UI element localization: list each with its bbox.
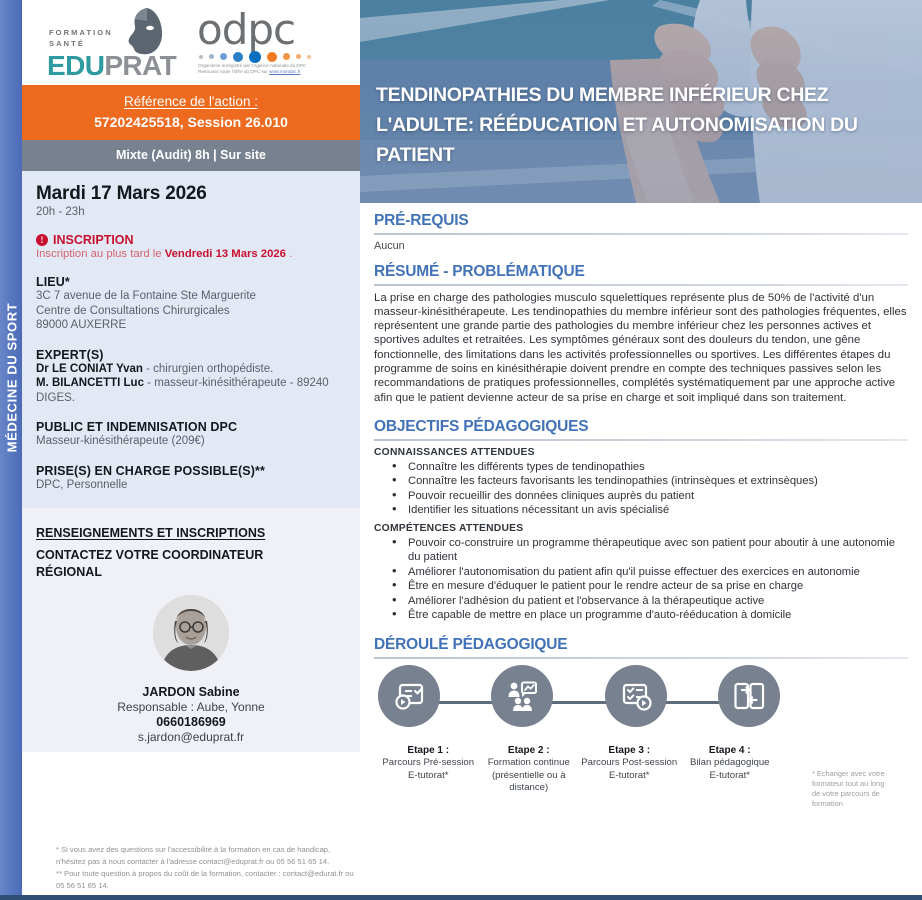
- odpc-dot-7: [283, 53, 290, 60]
- main-content: TENDINOPATHIES DU MEMBRE INFÉRIEUR CHEZ …: [360, 0, 922, 900]
- content-body: PRÉ-REQUIS Aucun RÉSUMÉ - PROBLÉMATIQUE …: [360, 203, 922, 795]
- odpc-dot-3: [220, 53, 227, 60]
- section-divider: [374, 439, 908, 441]
- odpc-dot-5: [249, 51, 261, 63]
- eduprat-logo: FORMATION SANTÉ EDUPRAT: [37, 8, 185, 82]
- list-item: Améliorer l'adhésion du patient et l'obs…: [380, 594, 908, 608]
- timeline-step-3[interactable]: [605, 665, 667, 727]
- subheading-connaissances: CONNAISSANCES ATTENDUES: [374, 447, 908, 458]
- odpc-legal-prefix: Retrouvez toute l'offre du DPC sur: [198, 69, 269, 74]
- odpc-logo: odpc Organisme enregistré par l'Agence: [195, 7, 345, 83]
- eduprat-word-prat: PRAT: [104, 50, 176, 81]
- expert-item: Dr LE CONIAT Yvan - chirurgien orthopédi…: [36, 362, 346, 377]
- list-item: Améliorer l'autonomisation du patient af…: [380, 565, 908, 579]
- reference-code: 57202425518, Session 26.010: [30, 114, 352, 130]
- contact-role: Responsable : Aube, Yonne: [36, 700, 346, 714]
- step-title: Etape 1 :: [378, 745, 479, 758]
- vertical-category-label: MÉDECINE DU SPORT: [5, 273, 20, 483]
- timeline-step-4[interactable]: [718, 665, 780, 727]
- step-line-1: Formation continue: [488, 757, 570, 768]
- timeline-node-list: [378, 665, 780, 727]
- timeline-step-1[interactable]: [378, 665, 440, 727]
- step-line-1: Parcours Pré-session: [382, 757, 474, 768]
- odpc-dot-9: [307, 55, 311, 59]
- connaissances-list: Connaître les différents types de tendin…: [380, 460, 908, 518]
- section-divider: [374, 233, 908, 235]
- spacer: [374, 254, 908, 263]
- list-item: Être en mesure d'éduquer le patient pour…: [380, 579, 908, 593]
- odpc-legal-text: Organisme enregistré par l'Agence nation…: [198, 63, 344, 76]
- session-date: Mardi 17 Mars 2026: [36, 183, 346, 205]
- footnotes: * Si vous avez des questions sur l'acces…: [44, 844, 374, 892]
- competences-list: Pouvoir co-construire un programme théra…: [380, 536, 908, 622]
- training-program-flyer: MÉDECINE DU SPORT FORMATION SANTÉ EDUPRA…: [0, 0, 922, 900]
- logo-band: FORMATION SANTÉ EDUPRAT odpc: [22, 0, 360, 85]
- timeline-label-2: Etape 2 : Formation continue (présentiel…: [479, 745, 580, 795]
- expert-name: M. BILANCETTI Luc: [36, 377, 144, 389]
- step-line-2: E-tutorat*: [408, 770, 449, 781]
- experts-heading: EXPERT(S): [36, 348, 346, 362]
- expert-item: M. BILANCETTI Luc - masseur-kinésithérap…: [36, 376, 346, 405]
- timeline-label-1: Etape 1 : Parcours Pré-session E-tutorat…: [378, 745, 479, 795]
- spacer: [374, 623, 908, 636]
- sidebar-content: FORMATION SANTÉ EDUPRAT odpc: [22, 0, 360, 900]
- prerequis-body: Aucun: [374, 240, 908, 254]
- timeline-step-2[interactable]: [491, 665, 553, 727]
- location-line-1: 3C 7 avenue de la Fontaine Ste Marguerit…: [36, 289, 346, 304]
- odpc-dot-6: [267, 52, 277, 62]
- contact-panel: RENSEIGNEMENTS ET INSCRIPTIONS CONTACTEZ…: [22, 508, 360, 752]
- public-body: Masseur-kinésithérapeute (209€): [36, 434, 346, 449]
- public-heading: PUBLIC ET INDEMNISATION DPC: [36, 420, 346, 434]
- bottom-border: [0, 895, 922, 900]
- expert-name: Dr LE CONIAT Yvan: [36, 363, 143, 375]
- section-heading-prerequis: PRÉ-REQUIS: [374, 212, 908, 230]
- post-session-checklist-icon: [619, 679, 653, 713]
- contact-email[interactable]: s.jardon@eduprat.fr: [36, 730, 346, 744]
- avatar-wrapper: [36, 595, 346, 676]
- location-heading: LIEU*: [36, 275, 346, 289]
- eduprat-tagline-2: SANTÉ: [49, 38, 113, 49]
- contact-subtitle-1: CONTACTEZ VOTRE COORDINATEUR: [36, 547, 346, 564]
- step-title: Etape 4 :: [680, 745, 781, 758]
- location-block: LIEU* 3C 7 avenue de la Fontaine Ste Mar…: [36, 275, 346, 333]
- reference-bar: Référence de l'action : 57202425518, Ses…: [22, 85, 360, 140]
- odpc-legal-line-2: Retrouvez toute l'offre du DPC sur www.m…: [198, 69, 344, 75]
- section-divider: [374, 284, 908, 286]
- odpc-dot-row: [199, 51, 311, 63]
- location-address: 3C 7 avenue de la Fontaine Ste Marguerit…: [36, 289, 346, 333]
- experts-block: EXPERT(S) Dr LE CONIAT Yvan - chirurgien…: [36, 348, 346, 406]
- reference-title: Référence de l'action :: [30, 94, 352, 109]
- odpc-dot-2: [209, 54, 214, 59]
- session-info-panel: Mardi 17 Mars 2026 20h - 23h ! INSCRIPTI…: [22, 171, 360, 508]
- inscription-deadline: Vendredi 13 Mars 2026: [165, 248, 286, 260]
- exchange-devices-icon: [732, 679, 766, 713]
- vertical-category-tab: MÉDECINE DU SPORT: [0, 0, 22, 900]
- eduprat-head-icon: [117, 8, 163, 56]
- step-line-1: Parcours Post-session: [581, 757, 677, 768]
- avatar: [153, 595, 229, 671]
- timeline-footnote: * Echanger avec votre formateur tout au …: [812, 769, 886, 809]
- timeline-nodes-row: [378, 665, 904, 739]
- left-sidebar: MÉDECINE DU SPORT FORMATION SANTÉ EDUPRA…: [0, 0, 360, 900]
- funding-block: PRISE(S) EN CHARGE POSSIBLE(S)** DPC, Pe…: [36, 464, 346, 493]
- timeline-labels: Etape 1 : Parcours Pré-session E-tutorat…: [378, 745, 780, 795]
- step-title: Etape 3 :: [579, 745, 680, 758]
- inscription-heading: ! INSCRIPTION: [36, 233, 346, 247]
- odpc-dot-1: [199, 55, 203, 59]
- section-deroule: DÉROULÉ PÉDAGOGIQUE: [374, 636, 908, 795]
- public-block: PUBLIC ET INDEMNISATION DPC Masseur-kiné…: [36, 420, 346, 449]
- list-item: Être capable de mettre en place un progr…: [380, 608, 908, 622]
- section-heading-resume: RÉSUMÉ - PROBLÉMATIQUE: [374, 263, 908, 281]
- timeline-label-3: Etape 3 : Parcours Post-session E-tutora…: [579, 745, 680, 795]
- eduprat-word-edu: EDU: [47, 50, 104, 81]
- inscription-body-post: .: [286, 248, 292, 260]
- step-title: Etape 2 :: [479, 745, 580, 758]
- step-line-1: Bilan pédagogique: [690, 757, 770, 768]
- section-divider: [374, 657, 908, 659]
- odpc-dot-4: [233, 52, 243, 62]
- section-objectifs: OBJECTIFS PÉDAGOGIQUES CONNAISSANCES ATT…: [374, 418, 908, 623]
- timeline: Etape 1 : Parcours Pré-session E-tutorat…: [374, 665, 908, 795]
- section-heading-objectifs: OBJECTIFS PÉDAGOGIQUES: [374, 418, 908, 436]
- contact-name: JARDON Sabine: [36, 685, 346, 699]
- spacer: [374, 405, 908, 418]
- list-item: Connaître les facteurs favorisants les t…: [380, 474, 908, 488]
- page-title: TENDINOPATHIES DU MEMBRE INFÉRIEUR CHEZ …: [376, 80, 906, 170]
- expert-detail: - chirurgien orthopédiste.: [143, 363, 273, 375]
- contact-subtitle-2: RÉGIONAL: [36, 564, 346, 581]
- list-item: Connaître les différents types de tendin…: [380, 460, 908, 474]
- funding-body: DPC, Personnelle: [36, 478, 346, 493]
- pre-session-checklist-icon: [392, 679, 426, 713]
- inscription-heading-label: INSCRIPTION: [53, 233, 134, 247]
- location-line-2: Centre de Consultations Chirurgicales: [36, 304, 346, 319]
- resume-body: La prise en charge des pathologies muscu…: [374, 291, 908, 405]
- session-hours: 20h - 23h: [36, 206, 346, 218]
- training-group-icon: [505, 679, 539, 713]
- alert-icon: !: [36, 234, 48, 246]
- modality-bar: Mixte (Audit) 8h | Sur site: [22, 140, 360, 171]
- location-line-3: 89000 AUXERRE: [36, 318, 346, 333]
- list-item: Pouvoir co-construire un programme théra…: [380, 536, 908, 564]
- inscription-body: Inscription au plus tard le Vendredi 13 …: [36, 248, 346, 260]
- eduprat-tagline-1: FORMATION: [49, 27, 113, 38]
- odpc-legal-link[interactable]: www.mondpc.fr: [269, 69, 300, 74]
- odpc-wordmark: odpc: [197, 9, 295, 51]
- funding-heading: PRISE(S) EN CHARGE POSSIBLE(S)**: [36, 464, 346, 478]
- subheading-competences: COMPÉTENCES ATTENDUES: [374, 523, 908, 534]
- timeline-label-4: Etape 4 : Bilan pédagogique E-tutorat*: [680, 745, 781, 795]
- footnote-2: ** Pour toute question à propos du coût …: [56, 868, 360, 891]
- list-item: Identifier les situations nécessitant un…: [380, 503, 908, 517]
- step-line-2: E-tutorat*: [609, 770, 650, 781]
- step-line-2: (présentielle ou à distance): [492, 770, 566, 794]
- section-prerequis: PRÉ-REQUIS Aucun: [374, 212, 908, 254]
- hero-banner: TENDINOPATHIES DU MEMBRE INFÉRIEUR CHEZ …: [360, 0, 922, 203]
- odpc-dot-8: [296, 54, 301, 59]
- footnote-1: * Si vous avez des questions sur l'acces…: [56, 844, 360, 867]
- contact-phone[interactable]: 0660186969: [36, 715, 346, 729]
- contact-title: RENSEIGNEMENTS ET INSCRIPTIONS: [36, 526, 346, 540]
- section-heading-deroule: DÉROULÉ PÉDAGOGIQUE: [374, 636, 908, 654]
- contact-subtitle: CONTACTEZ VOTRE COORDINATEUR RÉGIONAL: [36, 547, 346, 581]
- eduprat-tagline: FORMATION SANTÉ: [49, 27, 113, 49]
- inscription-body-pre: Inscription au plus tard le: [36, 248, 165, 260]
- step-line-2: E-tutorat*: [709, 770, 750, 781]
- experts-list: Dr LE CONIAT Yvan - chirurgien orthopédi…: [36, 362, 346, 406]
- inscription-block: ! INSCRIPTION Inscription au plus tard l…: [36, 233, 346, 260]
- avatar-photo-icon: [153, 595, 229, 671]
- eduprat-wordmark: EDUPRAT: [47, 50, 176, 82]
- section-resume: RÉSUMÉ - PROBLÉMATIQUE La prise en charg…: [374, 263, 908, 405]
- list-item: Pouvoir recueillir des données cliniques…: [380, 489, 908, 503]
